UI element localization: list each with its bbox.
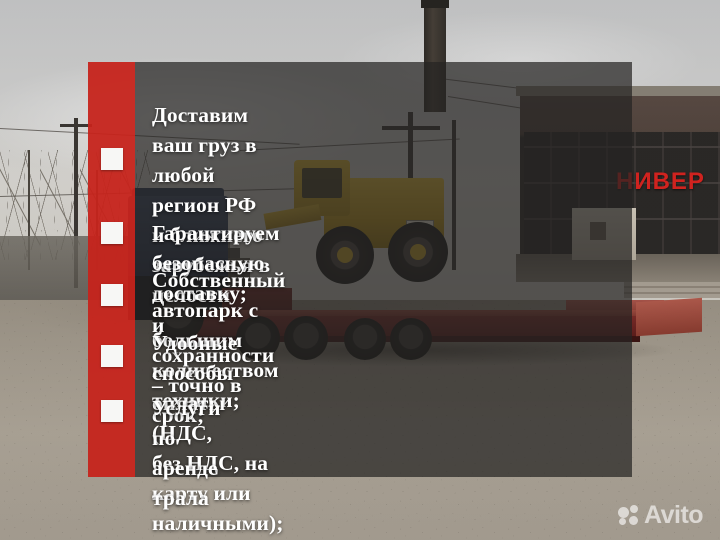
square-bullet-icon	[101, 400, 123, 422]
square-bullet-icon	[101, 284, 123, 306]
avito-wordmark: Avito	[644, 503, 703, 528]
benefit-text: Услуги по аренде трала	[152, 393, 221, 513]
benefits-list: Доставим ваш груз в любой регион РФ и бл…	[88, 62, 632, 477]
banner-image: НИВЕР	[0, 0, 720, 540]
square-bullet-icon	[101, 222, 123, 244]
square-bullet-icon	[101, 345, 123, 367]
avito-watermark: Avito	[618, 502, 703, 528]
avito-logo-icon	[618, 505, 640, 525]
square-bullet-icon	[101, 148, 123, 170]
